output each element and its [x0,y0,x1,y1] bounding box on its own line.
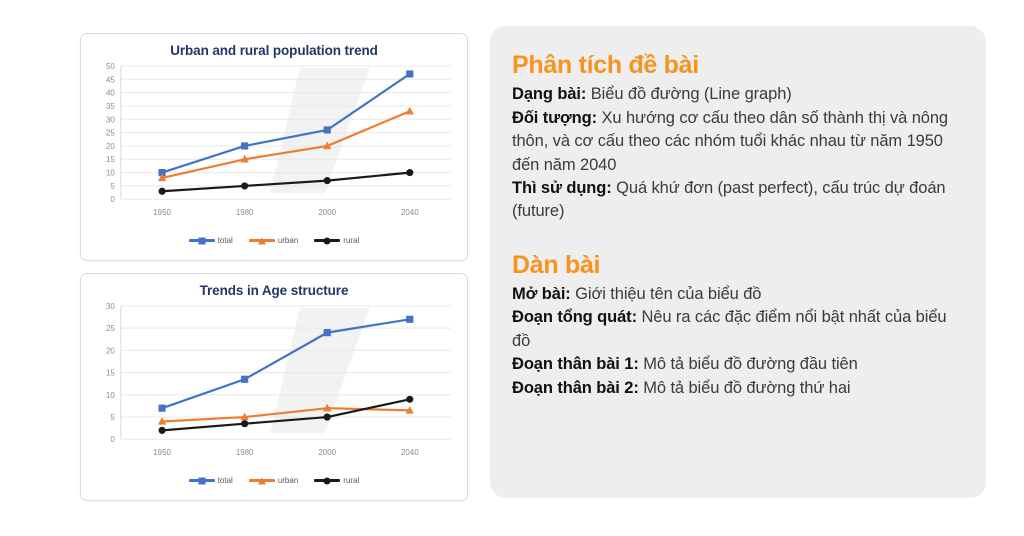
screenshot-root: Urban and rural population trend 0510152… [0,0,1024,536]
legend-item-rural[interactable]: rural [314,236,359,245]
legend-item-total[interactable]: total [189,476,233,485]
legend-item-urban[interactable]: urban [249,236,298,245]
y-axis-tick-label: 0 [110,195,115,204]
legend-label-urban: urban [278,476,298,485]
chart-card-age-structure: Trends in Age structure 0510152025301950… [80,273,468,501]
panel-line: Dạng bài: Biểu đồ đường (Line graph) [512,83,960,106]
y-axis-tick-label: 20 [106,142,115,151]
y-axis-tick-label: 5 [110,413,115,422]
legend-label-rural: rural [343,476,359,485]
panel-line-label: Thì sử dụng: [512,179,612,197]
data-point-rural [158,427,165,434]
legend-swatch-total [189,239,215,242]
y-axis-tick-label: 25 [106,129,115,138]
x-axis-tick-label: 2000 [318,448,336,457]
legend-label-urban: urban [278,236,298,245]
panel-line-label: Đoạn thân bài 1: [512,355,639,373]
y-axis-tick-label: 0 [110,435,115,444]
panel-line-text: Giới thiệu tên của biểu đồ [571,285,762,303]
x-axis-tick-label: 2000 [318,208,336,217]
panel-heading-analysis: Phân tích đề bài [512,50,960,81]
plot-area-age-structure: 0510152025301950198020002040 [81,298,467,475]
y-axis-tick-label: 20 [106,346,115,355]
data-point-total [158,405,165,412]
chart-watermark [270,308,369,433]
x-axis-tick-label: 1950 [153,448,171,457]
plot-area-urban-rural: 051015202530354045501950198020002040 [81,58,467,235]
line-chart-urban-rural: 051015202530354045501950198020002040 [81,58,467,235]
legend-item-rural[interactable]: rural [314,476,359,485]
legend-item-total[interactable]: total [189,236,233,245]
data-point-total [324,126,331,133]
y-axis-tick-label: 30 [106,302,115,311]
data-point-urban [406,107,414,115]
y-axis-tick-label: 10 [106,391,115,400]
data-point-rural [324,177,331,184]
y-axis-tick-label: 10 [106,169,115,178]
y-axis-tick-label: 30 [106,115,115,124]
panel-line-text: Mô tả biểu đồ đường thứ hai [639,379,851,397]
panel-section-outline-lines: Mở bài: Giới thiệu tên của biểu đồ Đoạn … [512,283,960,400]
panel-line-label: Đoạn tổng quát: [512,308,637,326]
chart-card-urban-rural: Urban and rural population trend 0510152… [80,33,468,261]
chart-title-urban-rural: Urban and rural population trend [81,43,467,58]
legend-label-total: total [218,236,233,245]
legend-swatch-rural [314,479,340,482]
panel-line-label: Mở bài: [512,285,571,303]
legend-swatch-urban [249,239,275,242]
chart-legend-urban-rural: totalurbanrural [81,236,467,245]
y-axis-tick-label: 15 [106,369,115,378]
x-axis-tick-label: 1980 [236,208,254,217]
analysis-panel: Phân tích đề bài Dạng bài: Biểu đồ đường… [490,26,986,498]
panel-line-label: Đối tượng: [512,109,597,127]
legend-swatch-urban [249,479,275,482]
data-point-total [406,316,413,323]
panel-section-analysis-lines: Dạng bài: Biểu đồ đường (Line graph) Đối… [512,83,960,224]
legend-marker-square-icon [198,477,205,484]
legend-swatch-total [189,479,215,482]
y-axis-tick-label: 40 [106,89,115,98]
panel-line: Đoạn tổng quát: Nêu ra các đặc điểm nổi … [512,306,960,353]
panel-line: Đoạn thân bài 2: Mô tả biểu đồ đường thứ… [512,377,960,400]
data-point-rural [241,420,248,427]
panel-line-text: Mô tả biểu đồ đường đầu tiên [639,355,858,373]
panel-line: Mở bài: Giới thiệu tên của biểu đồ [512,283,960,306]
legend-marker-circle-icon [324,237,331,244]
panel-line-text: Biểu đồ đường (Line graph) [586,85,791,103]
legend-marker-circle-icon [324,477,331,484]
data-point-rural [324,413,331,420]
x-axis-tick-label: 1980 [236,448,254,457]
data-point-rural [406,396,413,403]
chart-legend-age-structure: totalurbanrural [81,476,467,485]
y-axis-tick-label: 45 [106,75,115,84]
legend-label-total: total [218,476,233,485]
panel-line: Thì sử dụng: Quá khứ đơn (past perfect),… [512,177,960,224]
legend-marker-square-icon [198,237,205,244]
panel-heading-outline: Dàn bài [512,250,960,281]
data-point-total [324,329,331,336]
line-chart-age-structure: 0510152025301950198020002040 [81,298,467,475]
y-axis-tick-label: 50 [106,62,115,71]
panel-line-label: Dạng bài: [512,85,586,103]
y-axis-tick-label: 5 [110,182,115,191]
x-axis-tick-label: 2040 [401,208,419,217]
y-axis-tick-label: 25 [106,324,115,333]
data-point-rural [406,169,413,176]
y-axis-tick-label: 35 [106,102,115,111]
y-axis-tick-label: 15 [106,155,115,164]
legend-marker-triangle-icon [258,237,266,244]
data-point-total [241,142,248,149]
panel-line: Đối tượng: Xu hướng cơ cấu theo dân số t… [512,107,960,177]
data-point-total [241,376,248,383]
panel-line-label: Đoạn thân bài 2: [512,379,639,397]
data-point-rural [241,182,248,189]
legend-marker-triangle-icon [258,477,266,484]
data-point-rural [158,188,165,195]
legend-swatch-rural [314,239,340,242]
x-axis-tick-label: 1950 [153,208,171,217]
legend-label-rural: rural [343,236,359,245]
chart-title-age-structure: Trends in Age structure [81,283,467,298]
panel-line: Đoạn thân bài 1: Mô tả biểu đồ đường đầu… [512,353,960,376]
legend-item-urban[interactable]: urban [249,476,298,485]
x-axis-tick-label: 2040 [401,448,419,457]
data-point-total [406,70,413,77]
